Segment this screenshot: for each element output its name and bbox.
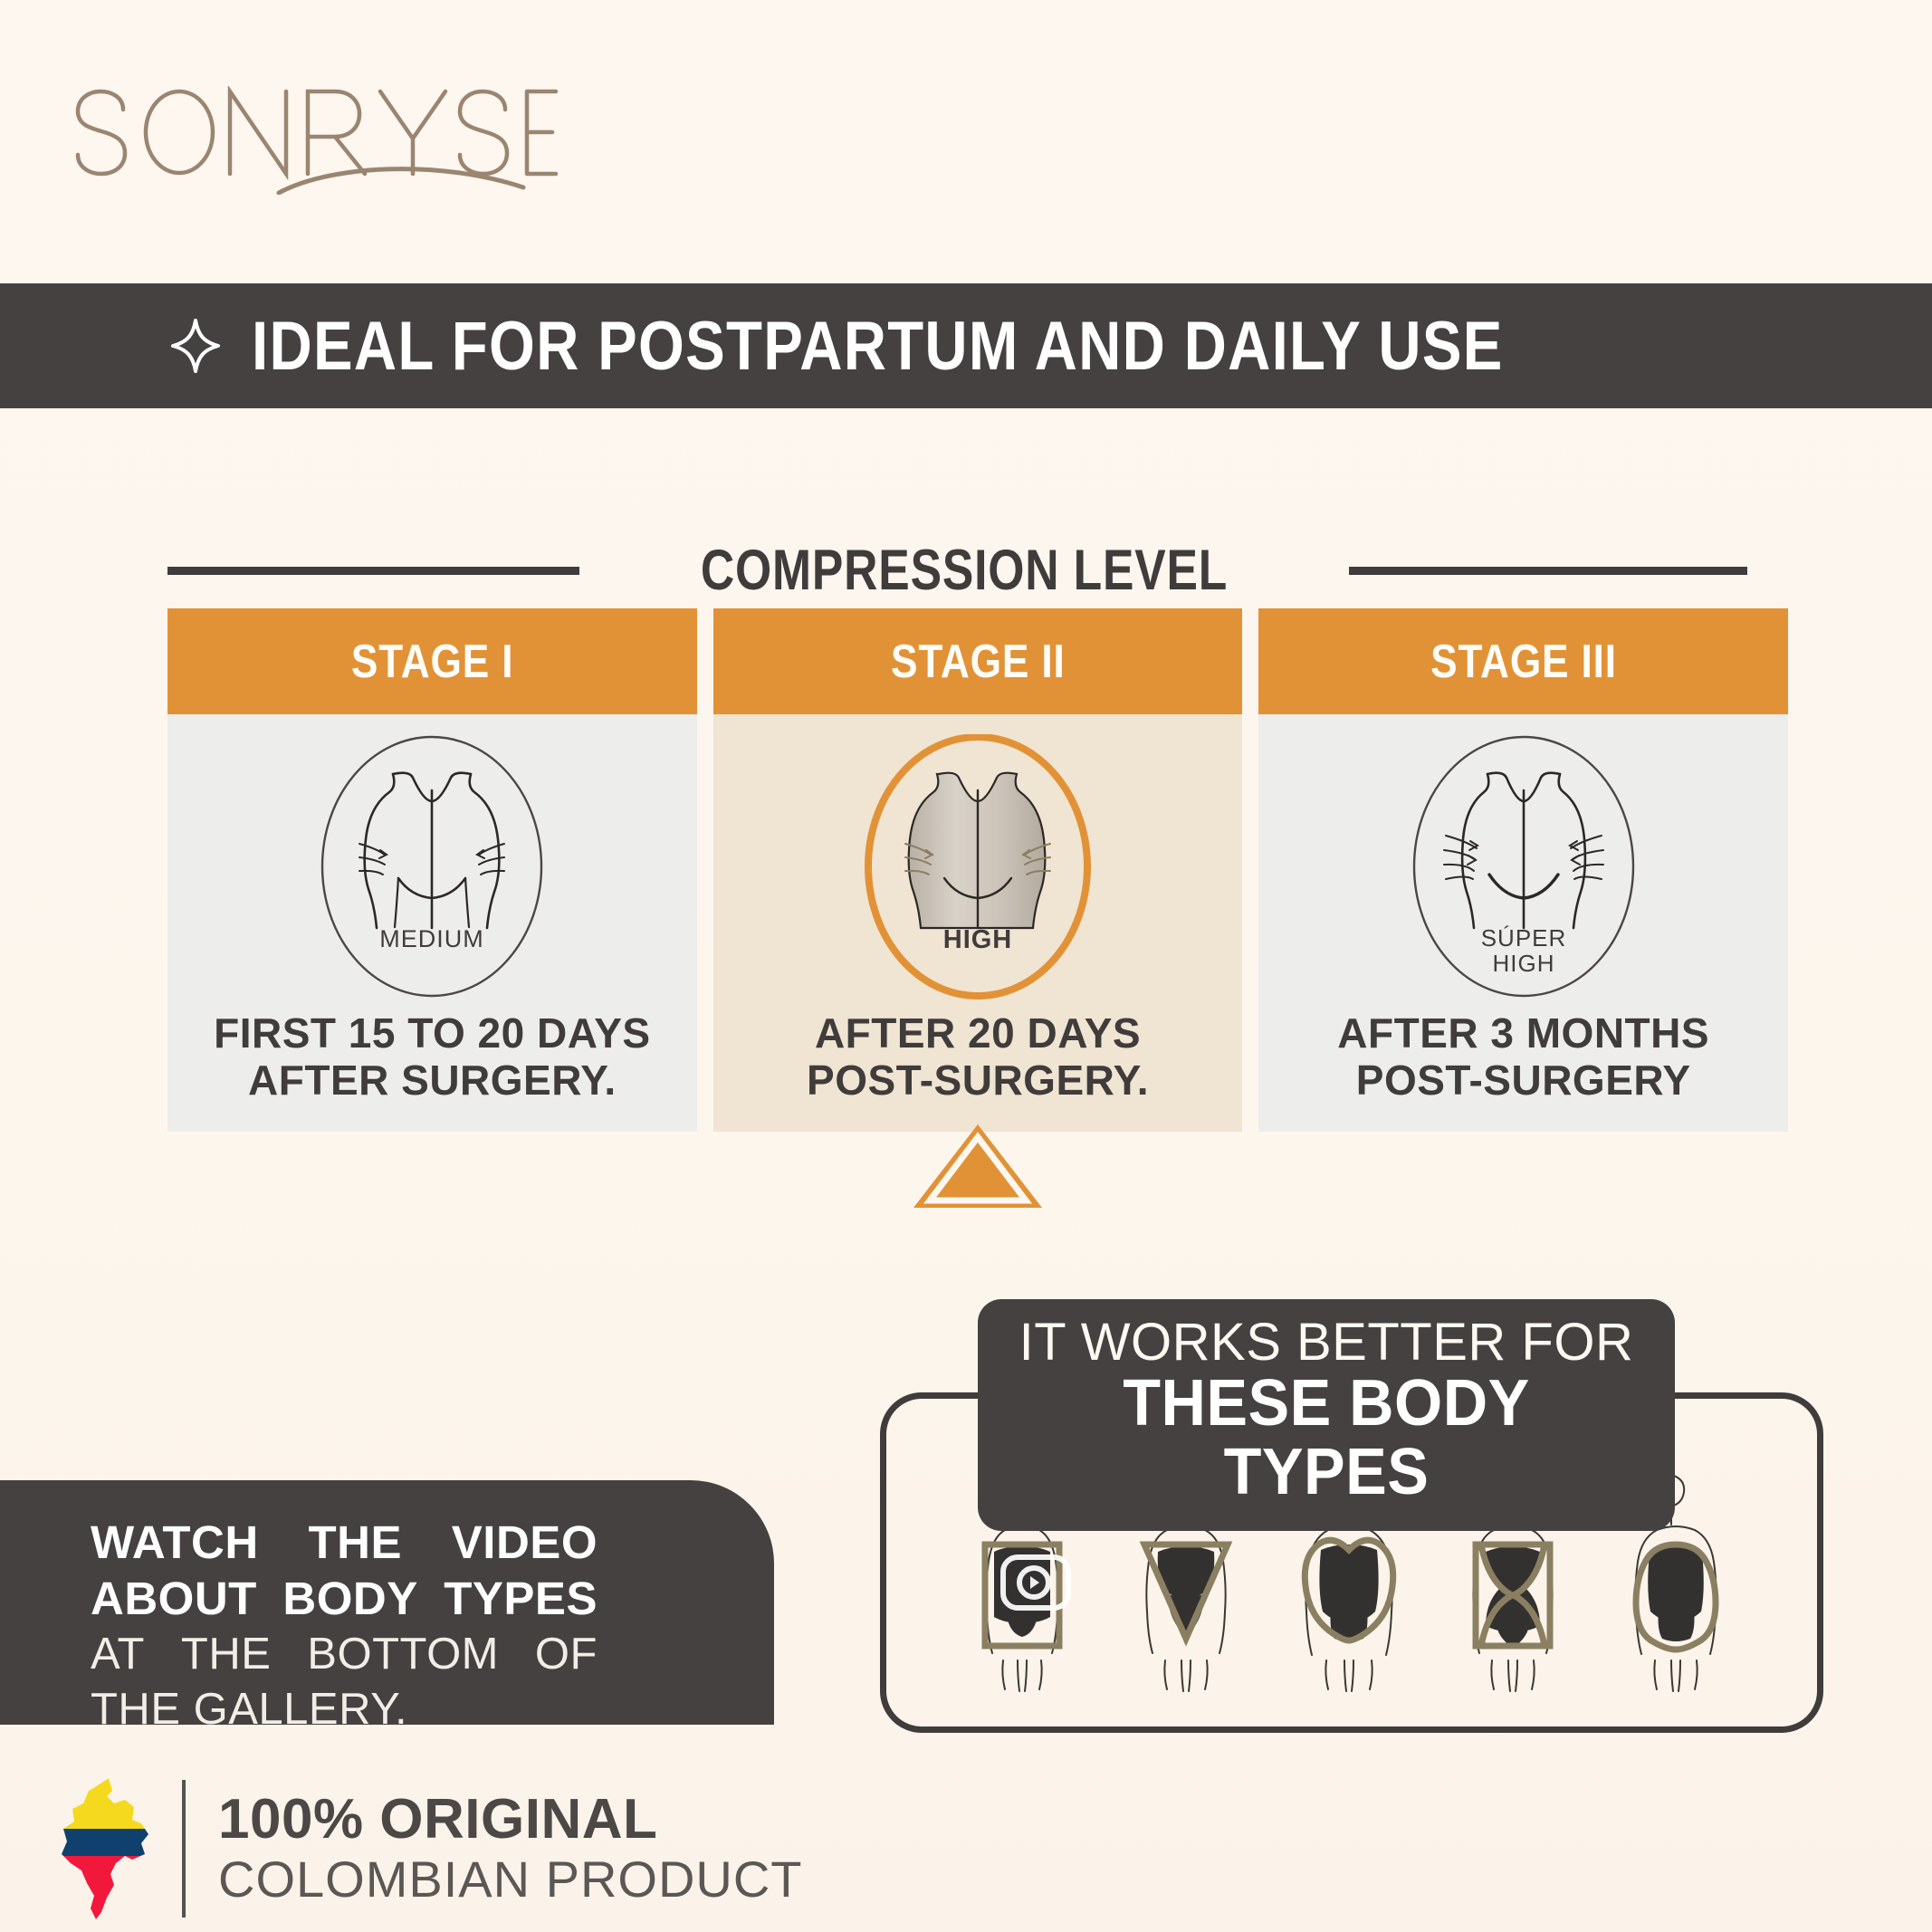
high-compression-icon: HIGH	[842, 734, 1114, 1006]
body-types-label-line2: THESE BODY TYPES	[1029, 1369, 1623, 1507]
stage-2-caption-line1: AFTER 20 DAYS	[807, 1009, 1149, 1057]
stage-3-caption-line1: AFTER 3 MONTHS	[1337, 1009, 1709, 1057]
footer-origin-badge: 100% ORIGINAL COLOMBIAN PRODUCT	[54, 1776, 803, 1921]
watch-video-line2: ABOUT BODY TYPES	[91, 1571, 598, 1627]
stage-1-level-text: MEDIUM	[380, 925, 485, 952]
compression-title: COMPRESSION LEVEL	[701, 538, 1228, 603]
stage-1-header-label: STAGE I	[351, 635, 513, 689]
watch-video-line4: THE GALLERY.	[91, 1682, 598, 1737]
stage-2-header: STAGE II	[713, 608, 1243, 714]
watch-line1-word1: WATCH	[91, 1515, 259, 1571]
stage-3-caption: AFTER 3 MONTHS POST-SURGERY	[1337, 1009, 1709, 1105]
stage-2-header-label: STAGE II	[891, 635, 1066, 689]
stage-2-badge: HIGH	[842, 734, 1114, 1006]
watch-line3-word2: THE	[181, 1627, 272, 1682]
stage-1-badge: MEDIUM	[296, 734, 568, 1006]
watch-video-line1: WATCH THE VIDEO	[91, 1515, 598, 1571]
body-types-label-line1: IT WORKS BETTER FOR	[1014, 1315, 1639, 1369]
watch-line3-word3: BOTTOM	[307, 1627, 499, 1682]
super-high-compression-icon: SÚPER HIGH	[1388, 734, 1659, 1006]
watch-line2-word2: BODY	[282, 1571, 417, 1627]
brand-logo	[53, 86, 560, 195]
stage-card-3[interactable]: STAGE III	[1258, 608, 1788, 1132]
stage-3-badge: SÚPER HIGH	[1388, 734, 1659, 1006]
stage-2-body: HIGH AFTER 20 DAYS POST-SURGERY.	[713, 714, 1243, 1132]
watch-line1-word2: THE	[308, 1515, 402, 1571]
infographic-page: IDEAL FOR POSTPARTUM AND DAILY USE COMPR…	[0, 0, 1932, 1932]
stage-1-body: MEDIUM FIRST 15 TO 20 DAYS AFTER SURGERY…	[167, 714, 697, 1132]
watch-line1-word3: VIDEO	[452, 1515, 598, 1571]
stage-card-2[interactable]: STAGE II	[713, 608, 1243, 1132]
sparkle-icon	[170, 318, 221, 374]
stage-3-level-line2: HIGH	[1492, 950, 1554, 977]
watch-video-line3: AT THE BOTTOM OF	[91, 1627, 598, 1682]
banner-title: IDEAL FOR POSTPARTUM AND DAILY USE	[252, 307, 1504, 386]
stage-3-header: STAGE III	[1258, 608, 1788, 714]
header-banner: IDEAL FOR POSTPARTUM AND DAILY USE	[0, 283, 1932, 408]
footer-subtitle: COLOMBIAN PRODUCT	[218, 1852, 803, 1907]
rule-left	[167, 567, 579, 575]
watch-line2-word1: ABOUT	[91, 1571, 257, 1627]
stage-1-caption-line2: AFTER SURGERY.	[214, 1057, 650, 1104]
footer-title: 100% ORIGINAL	[218, 1790, 803, 1849]
watch-video-box[interactable]: WATCH THE VIDEO ABOUT BODY TYPES AT THE …	[0, 1480, 774, 1725]
stage-1-caption: FIRST 15 TO 20 DAYS AFTER SURGERY.	[214, 1009, 650, 1105]
stage-2-caption: AFTER 20 DAYS POST-SURGERY.	[807, 1009, 1149, 1105]
medium-compression-icon: MEDIUM	[296, 734, 568, 1006]
watch-line3-word1: AT	[91, 1627, 145, 1682]
stage-2-level-text: HIGH	[943, 925, 1013, 954]
stage-1-header: STAGE I	[167, 608, 697, 714]
watch-line3-word4: OF	[535, 1627, 598, 1682]
stage-3-body: SÚPER HIGH AFTER 3 MONTHS POST-SURGERY	[1258, 714, 1788, 1132]
watch-line2-word3: TYPES	[444, 1571, 598, 1627]
stage-1-caption-line1: FIRST 15 TO 20 DAYS	[214, 1009, 650, 1057]
active-stage-pointer-icon	[910, 1121, 1046, 1211]
stage-3-header-label: STAGE III	[1430, 635, 1617, 689]
stage-2-caption-line2: POST-SURGERY.	[807, 1057, 1149, 1104]
compression-stage-list: STAGE I	[167, 608, 1788, 1132]
colombia-map-flag-icon	[54, 1776, 158, 1921]
rule-right	[1349, 567, 1747, 575]
stage-3-level-line1: SÚPER	[1480, 924, 1566, 952]
body-types-label: IT WORKS BETTER FOR THESE BODY TYPES	[978, 1299, 1675, 1531]
stage-3-caption-line2: POST-SURGERY	[1337, 1057, 1709, 1104]
stage-card-1[interactable]: STAGE I	[167, 608, 697, 1132]
footer-divider	[182, 1780, 186, 1918]
compression-heading: COMPRESSION LEVEL	[167, 534, 1788, 607]
